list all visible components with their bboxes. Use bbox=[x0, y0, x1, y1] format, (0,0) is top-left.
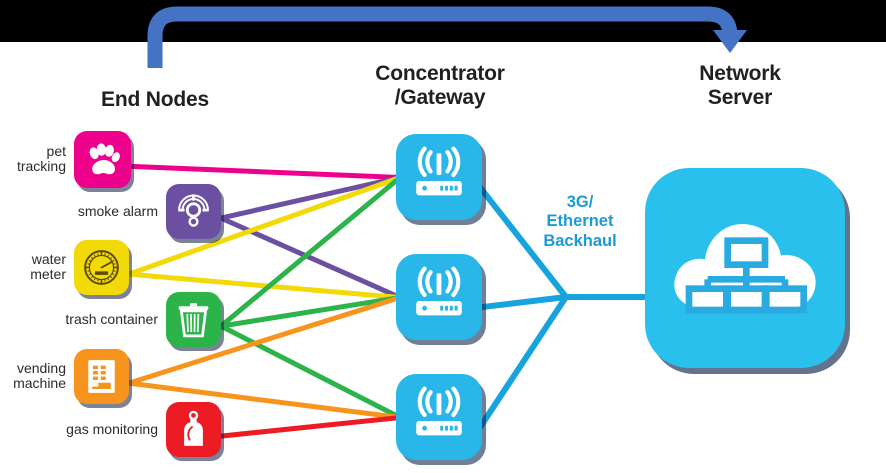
end-node-pet-tracking[interactable] bbox=[74, 131, 131, 188]
vending-machine-icon bbox=[82, 357, 121, 396]
end-node-label-pet-tracking: pet tracking bbox=[0, 144, 66, 175]
backhaul-link-gateway-3 bbox=[480, 297, 566, 427]
wireless-router-icon bbox=[409, 385, 469, 450]
heading-end-nodes: End Nodes bbox=[55, 88, 255, 112]
backhaul-label: 3G/ Ethernet Backhaul bbox=[520, 193, 640, 251]
gateway-1[interactable] bbox=[396, 134, 482, 220]
end-node-gas-monitoring[interactable] bbox=[166, 402, 221, 457]
paw-print-icon bbox=[83, 140, 123, 180]
trash-container-icon bbox=[174, 300, 213, 339]
gas-cylinder-icon bbox=[174, 410, 213, 449]
end-node-smoke-alarm[interactable] bbox=[166, 184, 221, 239]
cloud-hierarchy-icon bbox=[665, 199, 825, 338]
end-node-water-meter[interactable] bbox=[74, 240, 129, 295]
end-node-label-water-meter: water meter bbox=[0, 252, 66, 283]
wireless-router-icon bbox=[409, 145, 469, 210]
diagram-canvas: End Nodes Concentrator /Gateway Network … bbox=[0, 0, 886, 473]
heading-concentrator-gateway: Concentrator /Gateway bbox=[340, 62, 540, 109]
end-node-label-gas-monitoring: gas monitoring bbox=[8, 422, 158, 437]
end-node-trash-container[interactable] bbox=[166, 292, 221, 347]
smoke-alarm-icon bbox=[174, 192, 213, 231]
network-server[interactable] bbox=[645, 168, 845, 368]
wireless-router-icon bbox=[409, 265, 469, 330]
gateway-3[interactable] bbox=[396, 374, 482, 460]
end-node-label-smoke-alarm: smoke alarm bbox=[8, 204, 158, 219]
backhaul-link-gateway-2 bbox=[480, 297, 566, 307]
end-node-label-trash-container: trash container bbox=[8, 312, 158, 327]
heading-network-server: Network Server bbox=[640, 62, 840, 109]
gateway-2[interactable] bbox=[396, 254, 482, 340]
end-node-label-vending-machine: vending machine bbox=[0, 361, 66, 392]
end-node-vending-machine[interactable] bbox=[74, 349, 129, 404]
water-meter-icon bbox=[82, 248, 121, 287]
